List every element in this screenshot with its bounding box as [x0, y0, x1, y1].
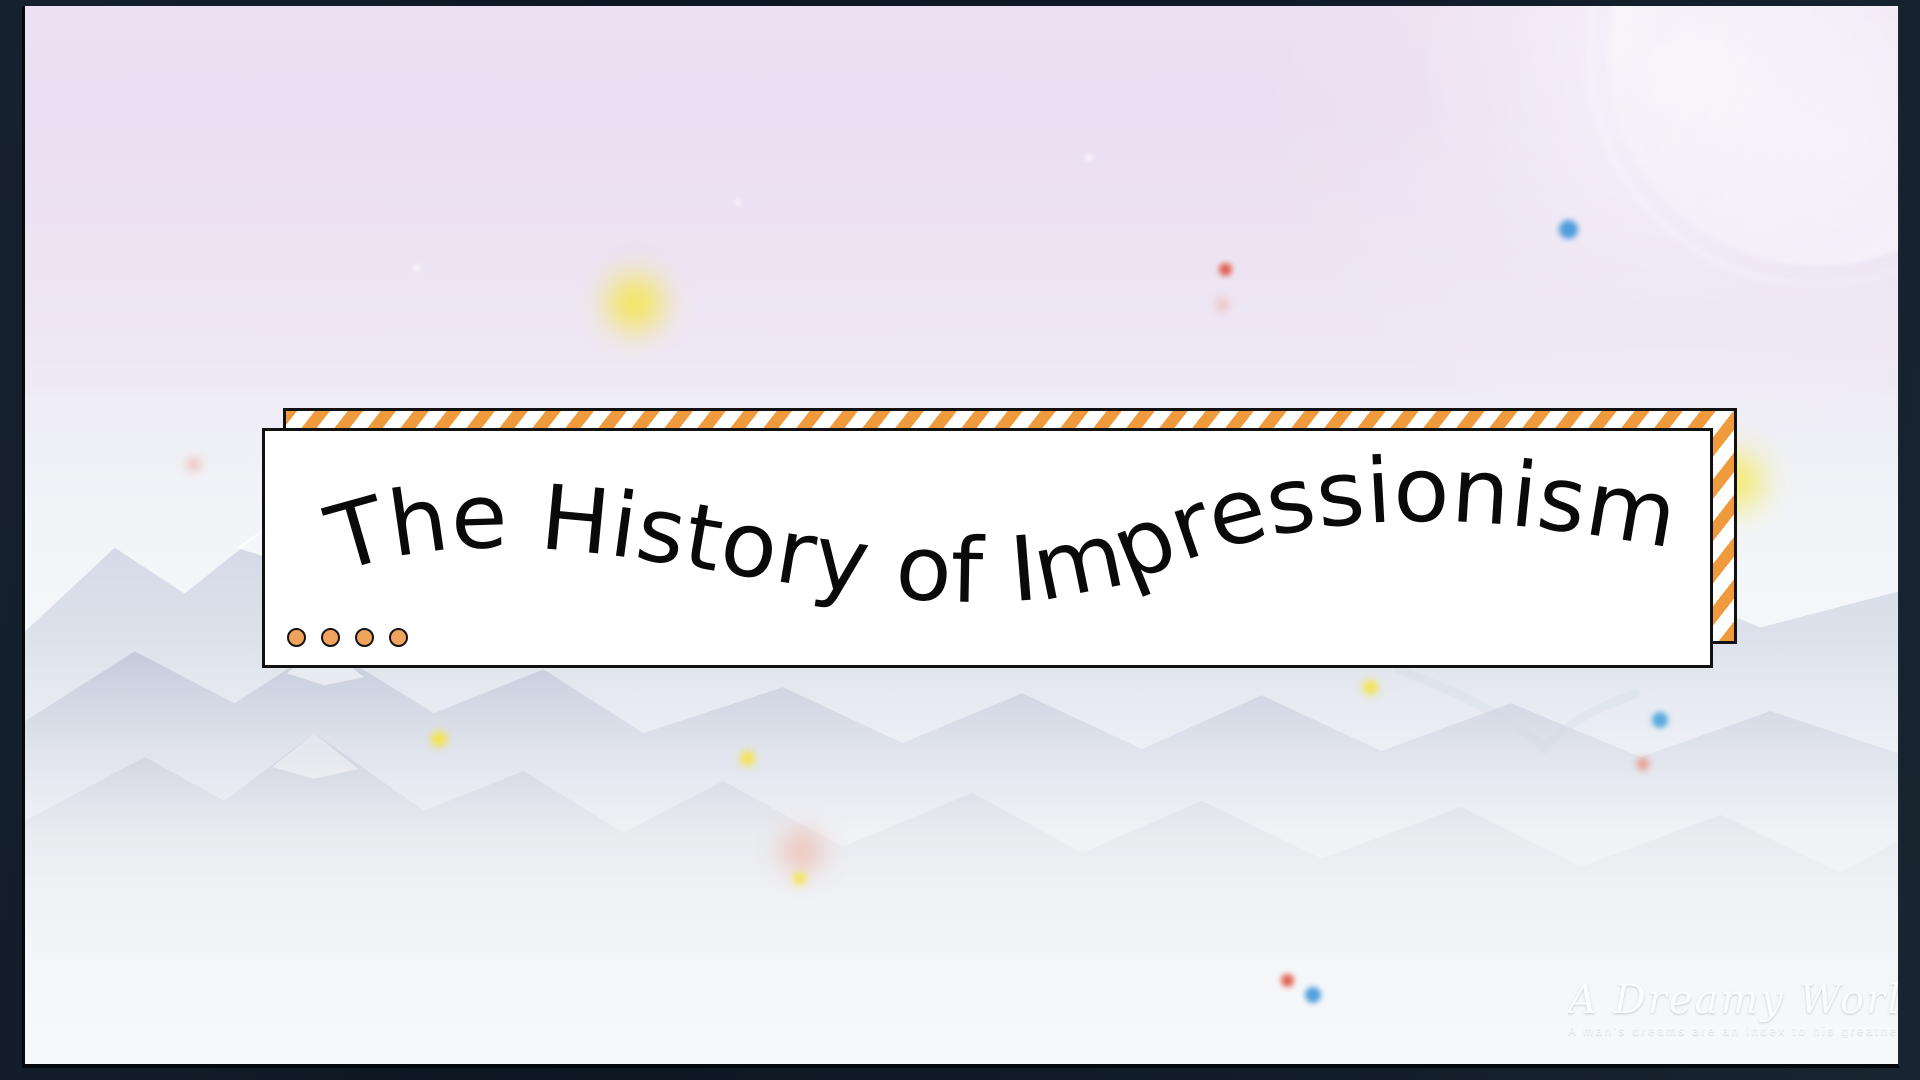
bullet-dot-4[interactable]	[389, 628, 408, 647]
slide-title-path: The History of Impressionism	[316, 439, 1685, 624]
particle-red-top	[1219, 263, 1232, 276]
watermark: A Dreamy World A man's dreams are an ind…	[1568, 979, 1898, 1038]
particle-red-left	[187, 458, 200, 471]
slide-canvas[interactable]: The History of Impressionism A Dreamy Wo…	[22, 6, 1900, 1068]
planet-arc-icon	[1588, 6, 1900, 286]
particle-blue-low	[1652, 712, 1668, 728]
watermark-tagline: A man's dreams are an index to his great…	[1568, 1026, 1898, 1038]
particle-blue-right	[1559, 220, 1578, 239]
particle-red-low	[1637, 758, 1649, 770]
bullet-dot-3[interactable]	[355, 628, 374, 647]
presentation-frame: The History of Impressionism A Dreamy Wo…	[0, 0, 1920, 1080]
dot-row	[287, 628, 408, 647]
particle-red-pale	[1217, 299, 1228, 310]
particle-star-b	[735, 200, 740, 205]
slide-title: The History of Impressionism	[316, 439, 1685, 624]
title-artistic-text: The History of Impressionism	[265, 431, 1710, 665]
particle-star-c	[1086, 155, 1092, 161]
particle-yellow-bird	[1363, 680, 1378, 695]
mist-overlay	[25, 641, 1898, 1064]
particle-yellow-large	[608, 276, 662, 330]
particle-red-glow	[782, 831, 822, 871]
title-card[interactable]: The History of Impressionism	[262, 428, 1713, 668]
planet-icon	[1608, 6, 1900, 266]
particle-star-a	[414, 265, 420, 271]
particle-yellow-mountain	[793, 872, 806, 885]
particle-yellow-lowmid	[740, 751, 755, 766]
particle-yellow-lowleft	[431, 731, 447, 747]
particle-red-bottom	[1281, 974, 1294, 987]
bullet-dot-2[interactable]	[321, 628, 340, 647]
bullet-dot-1[interactable]	[287, 628, 306, 647]
watermark-brand: A Dreamy World	[1568, 979, 1898, 1021]
particle-blue-bottom	[1305, 987, 1321, 1003]
